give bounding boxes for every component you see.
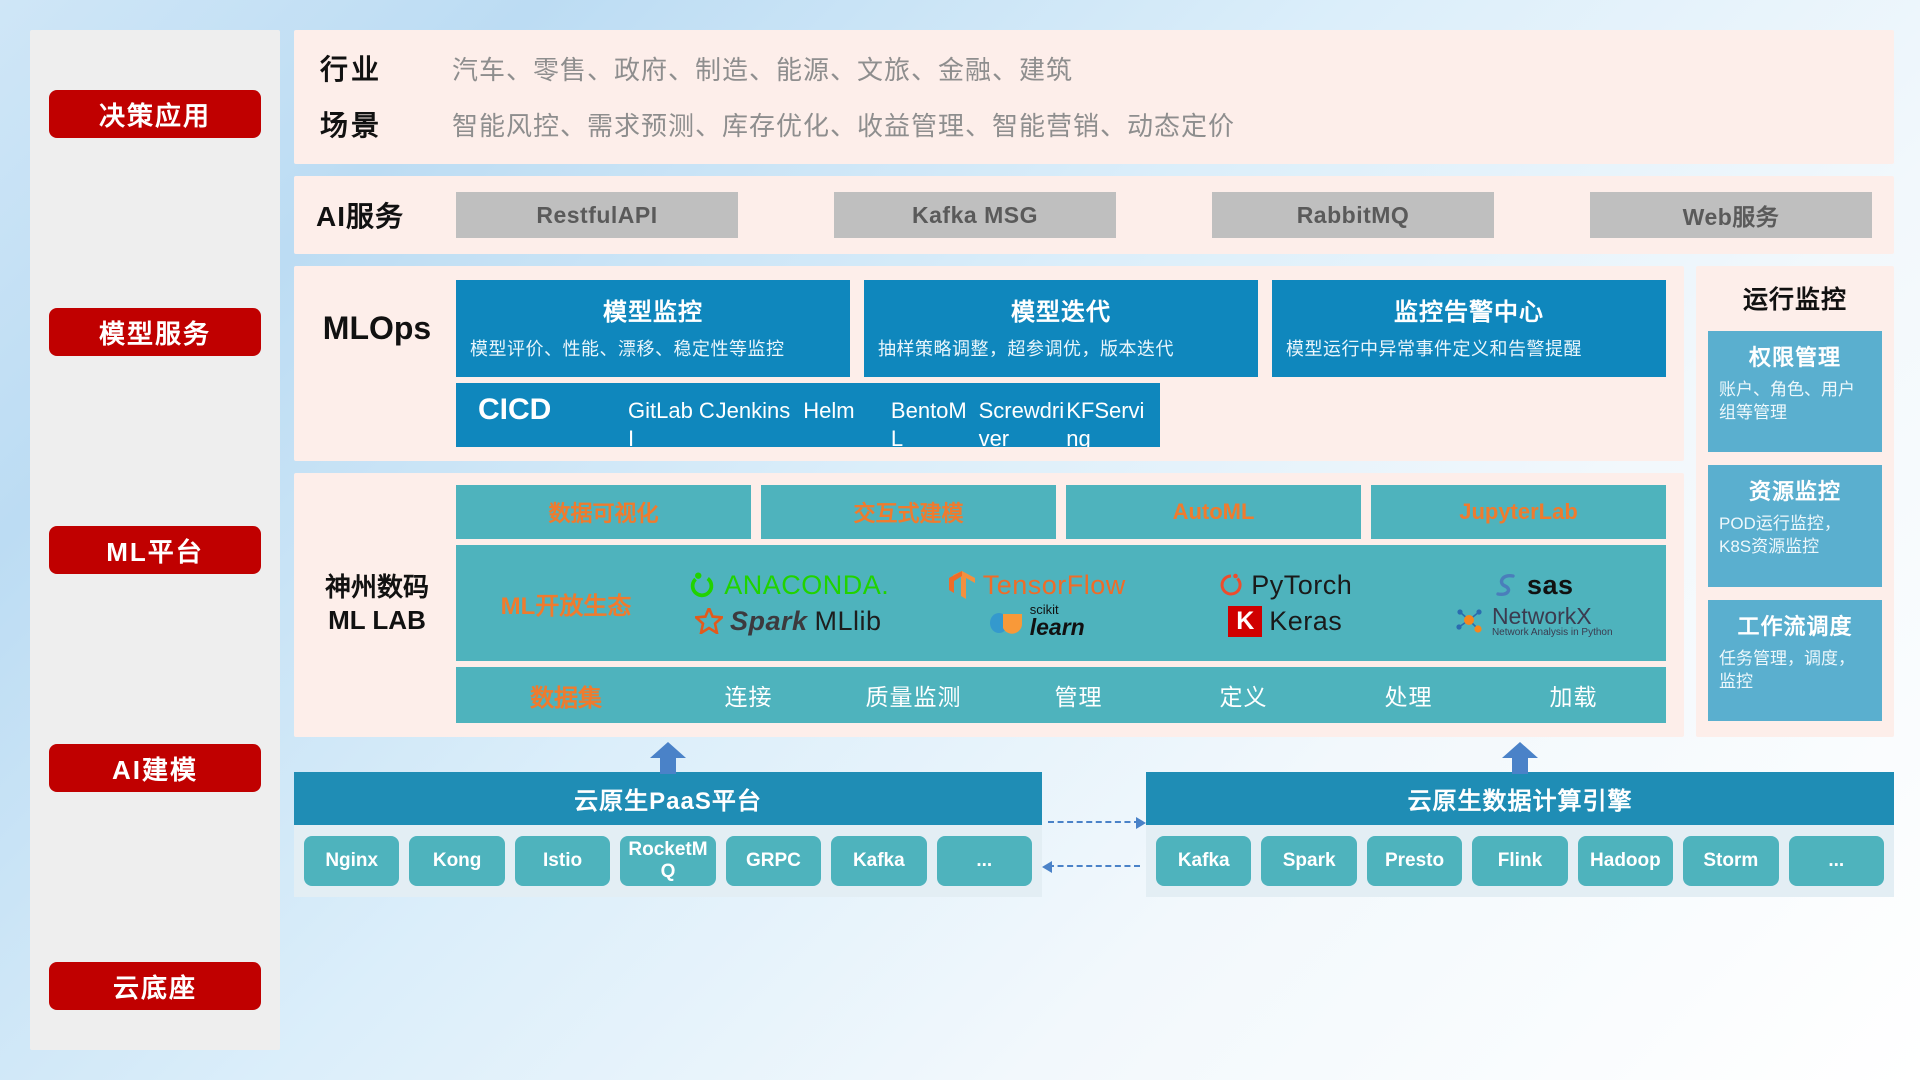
ml-lab-label-line2: ML LAB [325,604,429,638]
platform-middle: MLOps 模型监控 模型评价、性能、漂移、稳定性等监控 模型迭代 抽样策略调整… [294,266,1894,737]
mlops-card-desc: 模型运行中异常事件定义和告警提醒 [1286,337,1652,361]
ai-service-cells: RestfulAPI Kafka MSG RabbitMQ Web服务 [456,192,1872,238]
tab-data-visualization[interactable]: 数据可视化 [456,485,751,539]
rail-item-decision-app[interactable]: 决策应用 [49,90,261,138]
cicd-item-helm[interactable]: Helm [803,393,891,447]
scene-row: 场景 智能风控、需求预测、库存优化、收益管理、智能营销、动态定价 [320,104,1868,144]
dataset-item-process[interactable]: 处理 [1326,678,1491,712]
tensorflow-icon [948,570,976,600]
ml-lab-label-line1: 神州数码 [325,571,429,605]
cicd-item-bentoml[interactable]: BentoML [891,393,979,447]
cicd-spacer [312,383,442,447]
ai-service-label: AI服务 [316,195,434,235]
engine-chip-presto[interactable]: Presto [1367,836,1462,886]
dataset-label: 数据集 [466,678,666,713]
networkx-tagline: Network Analysis in Python [1492,628,1613,639]
ml-ecosystem-logos: ANACONDA. TensorFlow [666,567,1656,639]
tensorflow-wordmark: TensorFlow [983,570,1126,601]
mlops-card-model-iteration[interactable]: 模型迭代 抽样策略调整，超参调优，版本迭代 [864,280,1258,377]
connector-arrow-right-icon [1136,817,1146,829]
cicd-row: CICD GitLab CI Jenkins Helm BentoML Scre… [312,383,1666,447]
scikit-learn-logo: scikit learn [989,603,1085,639]
cicd-items: GitLab CI Jenkins Helm BentoML Screwdriv… [628,393,1154,447]
arrow-up-icon [1500,742,1540,774]
paas-chip-kafka[interactable]: Kafka [831,836,926,886]
mlops-band: MLOps 模型监控 模型评价、性能、漂移、稳定性等监控 模型迭代 抽样策略调整… [294,266,1684,461]
ml-lab-band: 神州数码 ML LAB 数据可视化 交互式建模 AutoML JupyterLa… [294,473,1684,737]
tab-interactive-modeling[interactable]: 交互式建模 [761,485,1056,539]
monitor-card-resource[interactable]: 资源监控 POD运行监控，K8S资源监控 [1708,465,1882,586]
diagram-canvas: 决策应用 模型服务 ML平台 AI建模 云底座 行业 汽车、零售、政府、制造、能… [0,0,1920,1080]
industry-value: 汽车、零售、政府、制造、能源、文旅、金融、建筑 [452,50,1073,87]
scene-value: 智能风控、需求预测、库存优化、收益管理、智能营销、动态定价 [452,106,1235,143]
main-column: 行业 汽车、零售、政府、制造、能源、文旅、金融、建筑 场景 智能风控、需求预测、… [294,30,1894,1050]
paas-chip-kong[interactable]: Kong [409,836,504,886]
ai-cell-restfulapi[interactable]: RestfulAPI [456,192,738,238]
cicd-title: CICD [478,393,628,427]
mlops-card-model-monitor[interactable]: 模型监控 模型评价、性能、漂移、稳定性等监控 [456,280,850,377]
mlops-card-desc: 抽样策略调整，超参调优，版本迭代 [878,337,1244,361]
mlops-card-title: 模型迭代 [878,292,1244,327]
sas-icon [1494,571,1520,599]
mlops-card-alert-center[interactable]: 监控告警中心 模型运行中异常事件定义和告警提醒 [1272,280,1666,377]
spark-star-icon [695,608,723,634]
paas-chip-rocketmq[interactable]: RocketMQ [620,836,715,886]
paas-chip-istio[interactable]: Istio [515,836,610,886]
mlops-row: MLOps 模型监控 模型评价、性能、漂移、稳定性等监控 模型迭代 抽样策略调整… [312,280,1666,377]
layer-rail: 决策应用 模型服务 ML平台 AI建模 云底座 [30,30,280,1050]
industry-label: 行业 [320,48,406,88]
paas-chip-nginx[interactable]: Nginx [304,836,399,886]
ml-lab-body: 数据可视化 交互式建模 AutoML JupyterLab ML开放生态 [456,485,1666,723]
engine-chip-storm[interactable]: Storm [1683,836,1778,886]
keras-logo: K Keras [1228,606,1342,637]
ai-cell-kafka-msg[interactable]: Kafka MSG [834,192,1116,238]
dataset-item-load[interactable]: 加载 [1491,678,1656,712]
ml-ecosystem-label: ML开放生态 [466,586,666,621]
monitor-card-workflow[interactable]: 工作流调度 任务管理，调度，监控 [1708,600,1882,721]
decision-app-band: 行业 汽车、零售、政府、制造、能源、文旅、金融、建筑 场景 智能风控、需求预测、… [294,30,1894,164]
monitor-card-title: 资源监控 [1719,474,1871,506]
mlops-cards: 模型监控 模型评价、性能、漂移、稳定性等监控 模型迭代 抽样策略调整，超参调优，… [456,280,1666,377]
sas-wordmark: sas [1527,570,1574,601]
dataset-items: 连接 质量监测 管理 定义 处理 加载 [666,678,1656,712]
runtime-monitor-panel: 运行监控 权限管理 账户、角色、用户组等管理 资源监控 POD运行监控，K8S资… [1696,266,1894,737]
tab-jupyterlab[interactable]: JupyterLab [1371,485,1666,539]
ml-lab-label: 神州数码 ML LAB [312,485,442,723]
cicd-item-gitlab-ci[interactable]: GitLab CI [628,393,716,447]
connector-line-bottom [1048,865,1140,867]
connector-line-top [1048,821,1140,823]
data-engine-title: 云原生数据计算引擎 [1146,772,1894,825]
data-engine-stack: 云原生数据计算引擎 Kafka Spark Presto Flink Hadoo… [1146,744,1894,897]
tab-automl[interactable]: AutoML [1066,485,1361,539]
ml-ecosystem-panel: ML开放生态 ANACONDA. [456,545,1666,661]
pytorch-logo: PyTorch [1218,570,1352,601]
paas-chip-grpc[interactable]: GRPC [726,836,821,886]
networkx-logo: NetworkX Network Analysis in Python [1455,604,1613,639]
mlops-card-desc: 模型评价、性能、漂移、稳定性等监控 [470,337,836,361]
scikit-learn-icon [989,606,1023,636]
ai-cell-rabbitmq[interactable]: RabbitMQ [1212,192,1494,238]
pytorch-icon [1218,570,1244,600]
cicd-bar: CICD GitLab CI Jenkins Helm BentoML Scre… [456,383,1160,447]
rail-item-ai-modeling[interactable]: AI建模 [49,744,261,792]
cicd-item-jenkins[interactable]: Jenkins [716,393,804,447]
dataset-row: 数据集 连接 质量监测 管理 定义 处理 加载 [456,667,1666,723]
ai-cell-web-service[interactable]: Web服务 [1590,192,1872,238]
anaconda-logo: ANACONDA. [687,570,889,601]
anaconda-icon [687,570,717,600]
ml-lab-tabs: 数据可视化 交互式建模 AutoML JupyterLab [456,485,1666,539]
mllib-wordmark: MLlib [815,606,882,637]
mlops-card-title: 模型监控 [470,292,836,327]
mlops-card-title: 监控告警中心 [1286,292,1652,327]
rail-item-model-service[interactable]: 模型服务 [49,308,261,356]
rail-item-cloud-base[interactable]: 云底座 [49,962,261,1010]
anaconda-wordmark: ANACONDA. [724,570,889,601]
engine-chip-more[interactable]: ... [1789,836,1884,886]
runtime-monitor-title: 运行监控 [1743,280,1847,316]
data-engine-chips: Kafka Spark Presto Flink Hadoop Storm ..… [1146,825,1894,897]
paas-stack: 云原生PaaS平台 Nginx Kong Istio RocketMQ GRPC… [294,744,1042,897]
cicd-item-screwdriver[interactable]: Screwdriver [979,393,1067,447]
connector-arrow-left-icon [1042,861,1052,873]
dataset-item-manage[interactable]: 管理 [996,678,1161,712]
scene-label: 场景 [320,104,406,144]
rail-item-ml-platform[interactable]: ML平台 [49,526,261,574]
cloud-base-row: 云原生PaaS平台 Nginx Kong Istio RocketMQ GRPC… [294,749,1894,897]
sas-logo: sas [1494,570,1574,601]
engine-chip-hadoop[interactable]: Hadoop [1578,836,1673,886]
monitor-card-title: 权限管理 [1719,340,1871,372]
engine-chip-flink[interactable]: Flink [1472,836,1567,886]
monitor-card-desc: 任务管理，调度，监控 [1719,648,1871,694]
mlops-label: MLOps [312,280,442,377]
monitor-card-title: 工作流调度 [1719,609,1871,641]
paas-chip-more[interactable]: ... [937,836,1032,886]
monitor-card-desc: 账户、角色、用户组等管理 [1719,379,1871,425]
paas-title: 云原生PaaS平台 [294,772,1042,825]
engine-chip-spark[interactable]: Spark [1261,836,1356,886]
networkx-icon [1455,607,1485,635]
tensorflow-logo: TensorFlow [948,570,1126,601]
monitor-card-permission[interactable]: 权限管理 账户、角色、用户组等管理 [1708,331,1882,452]
dataset-item-define[interactable]: 定义 [1161,678,1326,712]
keras-wordmark: Keras [1269,606,1342,637]
platform-left: MLOps 模型监控 模型评价、性能、漂移、稳定性等监控 模型迭代 抽样策略调整… [294,266,1684,737]
cicd-item-kfserving[interactable]: KFServing [1066,393,1154,447]
keras-mark-icon: K [1228,606,1262,637]
ai-service-band: AI服务 RestfulAPI Kafka MSG RabbitMQ Web服务 [294,176,1894,254]
spark-mllib-logo: Spark MLlib [695,606,882,637]
networkx-wordmark: NetworkX [1492,604,1613,628]
paas-chips: Nginx Kong Istio RocketMQ GRPC Kafka ... [294,825,1042,897]
monitor-card-desc: POD运行监控，K8S资源监控 [1719,513,1871,559]
spark-wordmark: Spark [730,606,808,637]
dataset-item-connect[interactable]: 连接 [666,678,831,712]
pytorch-wordmark: PyTorch [1251,570,1352,601]
industry-row: 行业 汽车、零售、政府、制造、能源、文旅、金融、建筑 [320,48,1868,88]
engine-chip-kafka[interactable]: Kafka [1156,836,1251,886]
dataset-item-quality-monitor[interactable]: 质量监测 [831,678,996,712]
arrow-up-icon [648,742,688,774]
learn-word: learn [1030,616,1085,639]
